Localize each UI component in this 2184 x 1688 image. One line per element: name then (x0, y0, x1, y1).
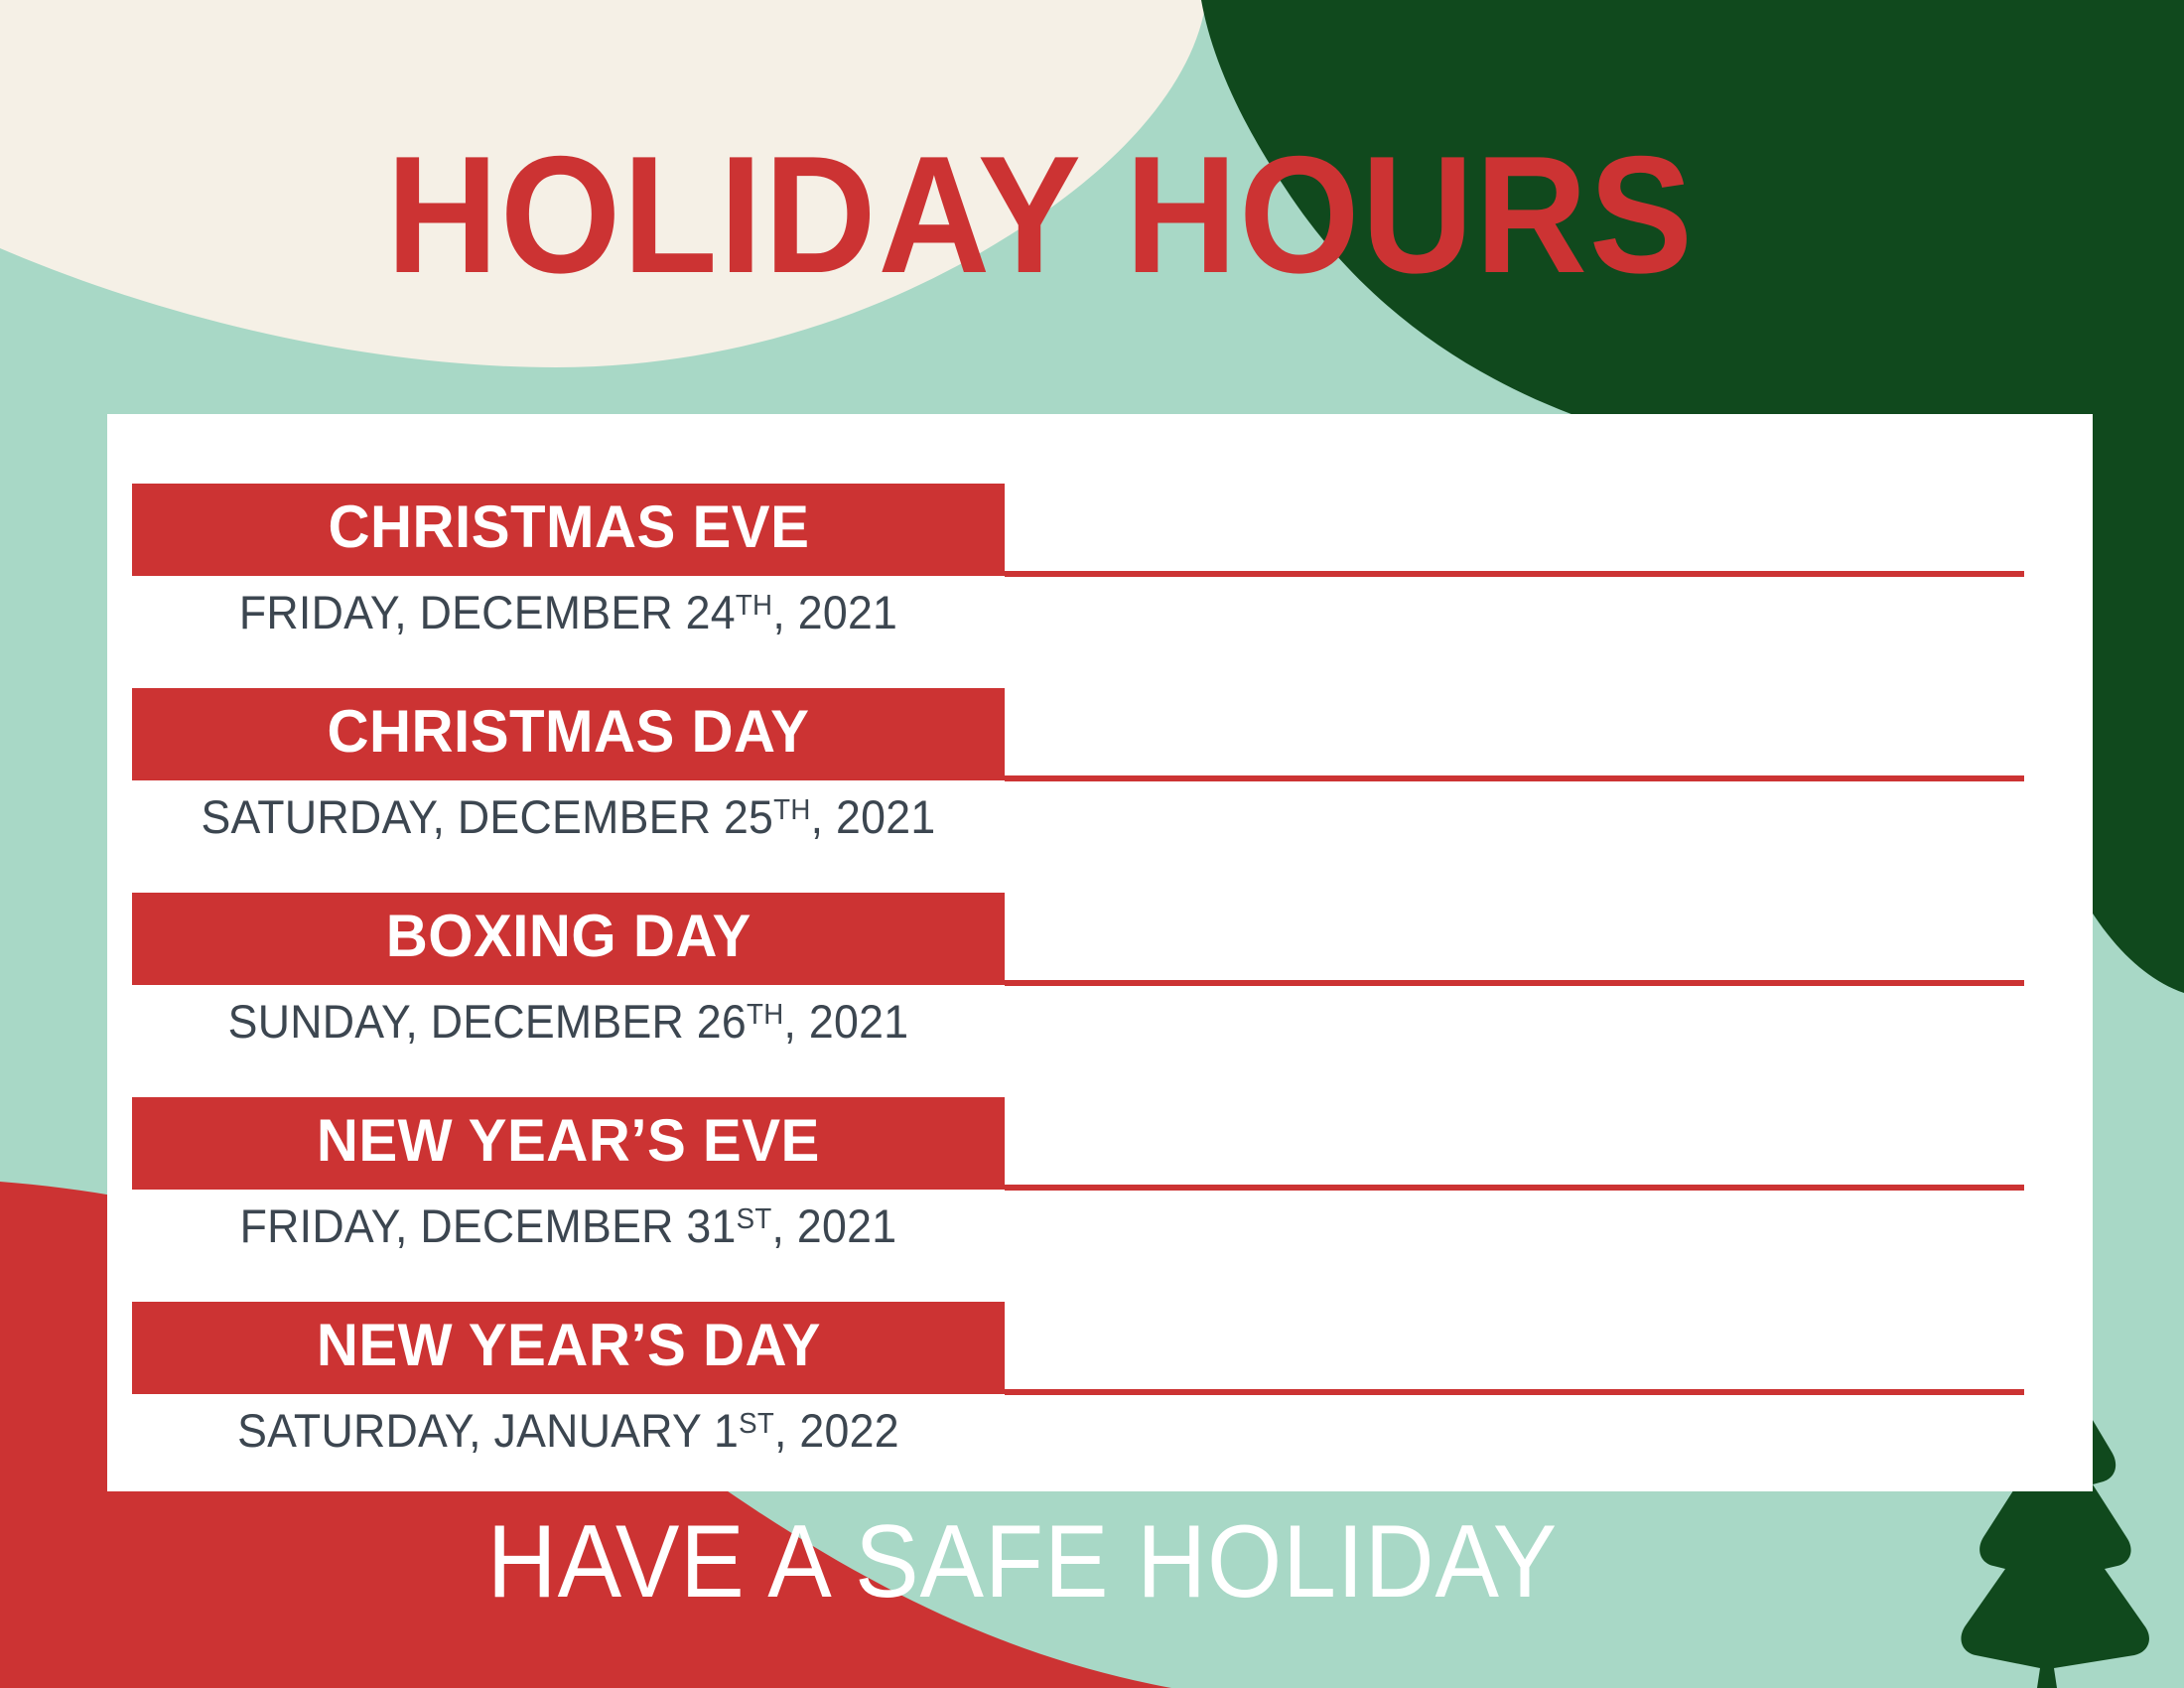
page-title: HOLIDAY HOURS (25, 131, 2056, 298)
holiday-banner: NEW YEAR’S DAY (132, 1302, 1005, 1394)
holiday-date: SATURDAY, DECEMBER 25TH, 2021 (154, 787, 983, 847)
date-weekday: FRIDAY, (240, 1199, 408, 1252)
date-weekday: SATURDAY, (201, 790, 445, 843)
holiday-date: FRIDAY, DECEMBER 31ST, 2021 (154, 1196, 983, 1256)
table-row: BOXING DAY SUNDAY, DECEMBER 26TH, 2021 (107, 893, 2093, 1097)
date-weekday: FRIDAY, (239, 586, 407, 638)
hours-entry-line (1005, 1185, 2024, 1191)
date-ordinal: TH (736, 590, 772, 622)
holiday-date: FRIDAY, DECEMBER 24TH, 2021 (154, 583, 983, 642)
date-month: DECEMBER (431, 995, 684, 1048)
date-year: 2021 (798, 586, 897, 638)
table-row: CHRISTMAS EVE FRIDAY, DECEMBER 24TH, 202… (107, 484, 2093, 688)
holiday-name: CHRISTMAS EVE (328, 497, 809, 557)
date-month: DECEMBER (420, 586, 673, 638)
holiday-hours-poster: HOLIDAY HOURS CHRISTMAS EVE FRIDAY, DECE… (0, 0, 2184, 1688)
date-ordinal: TH (747, 999, 783, 1031)
date-year: 2021 (836, 790, 935, 843)
hours-entry-line (1005, 571, 2024, 577)
date-year: 2022 (799, 1404, 898, 1457)
table-row: NEW YEAR’S EVE FRIDAY, DECEMBER 31ST, 20… (107, 1097, 2093, 1302)
date-ordinal: ST (739, 1408, 774, 1440)
holiday-name: CHRISTMAS DAY (327, 702, 809, 762)
date-month: DECEMBER (420, 1199, 673, 1252)
date-day: 25 (724, 790, 773, 843)
holiday-date: SATURDAY, JANUARY 1ST, 2022 (154, 1401, 983, 1461)
holiday-banner: CHRISTMAS EVE (132, 484, 1005, 576)
date-weekday: SUNDAY, (228, 995, 418, 1048)
hours-card: CHRISTMAS EVE FRIDAY, DECEMBER 24TH, 202… (107, 414, 2093, 1491)
date-year: 2021 (797, 1199, 896, 1252)
hours-entry-line (1005, 775, 2024, 781)
footer-message: HAVE A SAFE HOLIDAY (7, 1502, 2038, 1621)
date-year: 2021 (809, 995, 908, 1048)
holiday-date: SUNDAY, DECEMBER 26TH, 2021 (154, 992, 983, 1052)
holiday-banner: NEW YEAR’S EVE (132, 1097, 1005, 1190)
date-day: 24 (686, 586, 736, 638)
date-day: 26 (697, 995, 747, 1048)
holiday-name: NEW YEAR’S EVE (317, 1111, 820, 1171)
hours-entry-line (1005, 1389, 2024, 1395)
date-month: DECEMBER (458, 790, 711, 843)
date-ordinal: ST (737, 1203, 772, 1235)
date-day: 31 (686, 1199, 736, 1252)
date-day: 1 (714, 1404, 739, 1457)
hours-entry-line (1005, 980, 2024, 986)
date-weekday: SATURDAY, (237, 1404, 481, 1457)
table-row: NEW YEAR’S DAY SATURDAY, JANUARY 1ST, 20… (107, 1302, 2093, 1506)
date-month: JANUARY (493, 1404, 701, 1457)
holiday-name: NEW YEAR’S DAY (316, 1316, 820, 1375)
holiday-name: BOXING DAY (385, 907, 751, 966)
date-ordinal: TH (773, 794, 810, 826)
holiday-banner: BOXING DAY (132, 893, 1005, 985)
table-row: CHRISTMAS DAY SATURDAY, DECEMBER 25TH, 2… (107, 688, 2093, 893)
holiday-banner: CHRISTMAS DAY (132, 688, 1005, 780)
